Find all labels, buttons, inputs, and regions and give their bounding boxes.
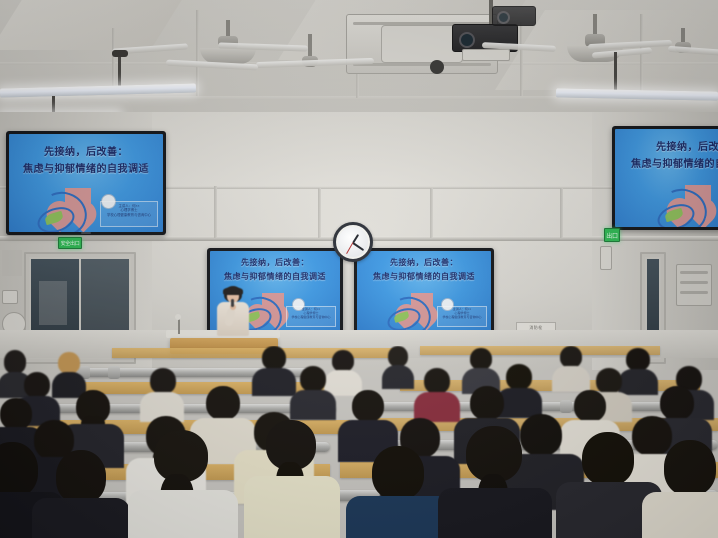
lecture-hall-photo: 先接纳，后改善： 焦虑与抑郁情绪的自我调适 主讲人：何×× 心理学博士 学校心理… xyxy=(0,0,718,538)
left-wall-panel xyxy=(2,250,22,276)
slide-title-line2: 焦虑与抑郁情绪的自我调适 xyxy=(9,160,163,175)
exit-sign-left: 安全出口 xyxy=(58,237,82,249)
slide-credits-box: 主讲人：何×× 心理学博士 学校心理健康教育与咨询中心 xyxy=(100,201,158,227)
light-hanger xyxy=(614,52,617,92)
wall-conduit xyxy=(560,188,563,238)
slide-title-line2: 焦虑与抑郁情绪的自我调适 xyxy=(210,271,340,282)
tier-desk xyxy=(112,348,402,358)
light-switch-panel[interactable] xyxy=(2,290,18,304)
right-wall-screen[interactable]: 先接纳，后改善： 焦虑与抑郁情绪的自我调适 xyxy=(612,126,718,230)
exit-sign-right: 出口 xyxy=(604,228,620,242)
wall-conduit xyxy=(430,188,433,238)
light-hanger xyxy=(118,54,121,88)
tier-desk xyxy=(420,346,660,355)
projector-bracket xyxy=(462,49,510,61)
wall-conduit xyxy=(214,186,217,238)
ceiling-projector-secondary xyxy=(492,6,536,26)
slide-title-line1: 先接纳，后改善： xyxy=(357,257,491,268)
ceiling-fan xyxy=(250,34,370,74)
presenter xyxy=(212,286,254,336)
slide-title-line2: 焦虑与抑郁情绪的自我调适 xyxy=(357,271,491,282)
rail-joint xyxy=(560,400,572,413)
credits-line3: 学校心理健康教育与咨询中心 xyxy=(287,316,335,320)
slide-title-line1: 先接纳，后改善： xyxy=(9,143,163,158)
ceiling-panel xyxy=(0,0,185,50)
slide-credits-box: 主讲人：何×× 心理学博士 学校心理健康教育与咨询中心 xyxy=(437,306,487,327)
slide-credits-box: 主讲人：何×× 心理学博士 学校心理健康教育与咨询中心 xyxy=(286,306,336,327)
slide-title-line2: 焦虑与抑郁情绪的自我调适 xyxy=(627,155,718,170)
wall-conduit xyxy=(318,188,321,238)
ceiling-fan xyxy=(638,28,718,72)
center-right-screen[interactable]: 先接纳，后改善： 焦虑与抑郁情绪的自我调适 主讲人：何×× 心理学博士 学校心理… xyxy=(354,248,494,334)
wall-clock xyxy=(333,222,373,262)
desk-mic-head xyxy=(175,314,181,320)
credits-line3: 学校心理健康教育与咨询中心 xyxy=(438,316,486,320)
ceiling-speaker-dome xyxy=(430,60,444,74)
left-wall-screen[interactable]: 先接纳，后改善： 焦虑与抑郁情绪的自我调适 主讲人：何×× 心理学博士 学校心理… xyxy=(6,131,166,235)
audience-area xyxy=(0,346,718,538)
ceiling-conduit xyxy=(520,22,523,96)
credits-line3: 学校心理健康教育与咨询中心 xyxy=(101,213,157,217)
ceiling-conduit xyxy=(112,28,115,92)
wall-vent xyxy=(676,264,712,306)
slide-title-line1: 先接纳，后改善： xyxy=(210,257,340,268)
light-mount xyxy=(112,50,128,57)
wall-mounted-box xyxy=(600,246,612,270)
rail-joint xyxy=(108,366,120,379)
slide-title-line1: 先接纳，后改善： xyxy=(641,138,718,153)
desk-mic-stand xyxy=(178,318,180,334)
